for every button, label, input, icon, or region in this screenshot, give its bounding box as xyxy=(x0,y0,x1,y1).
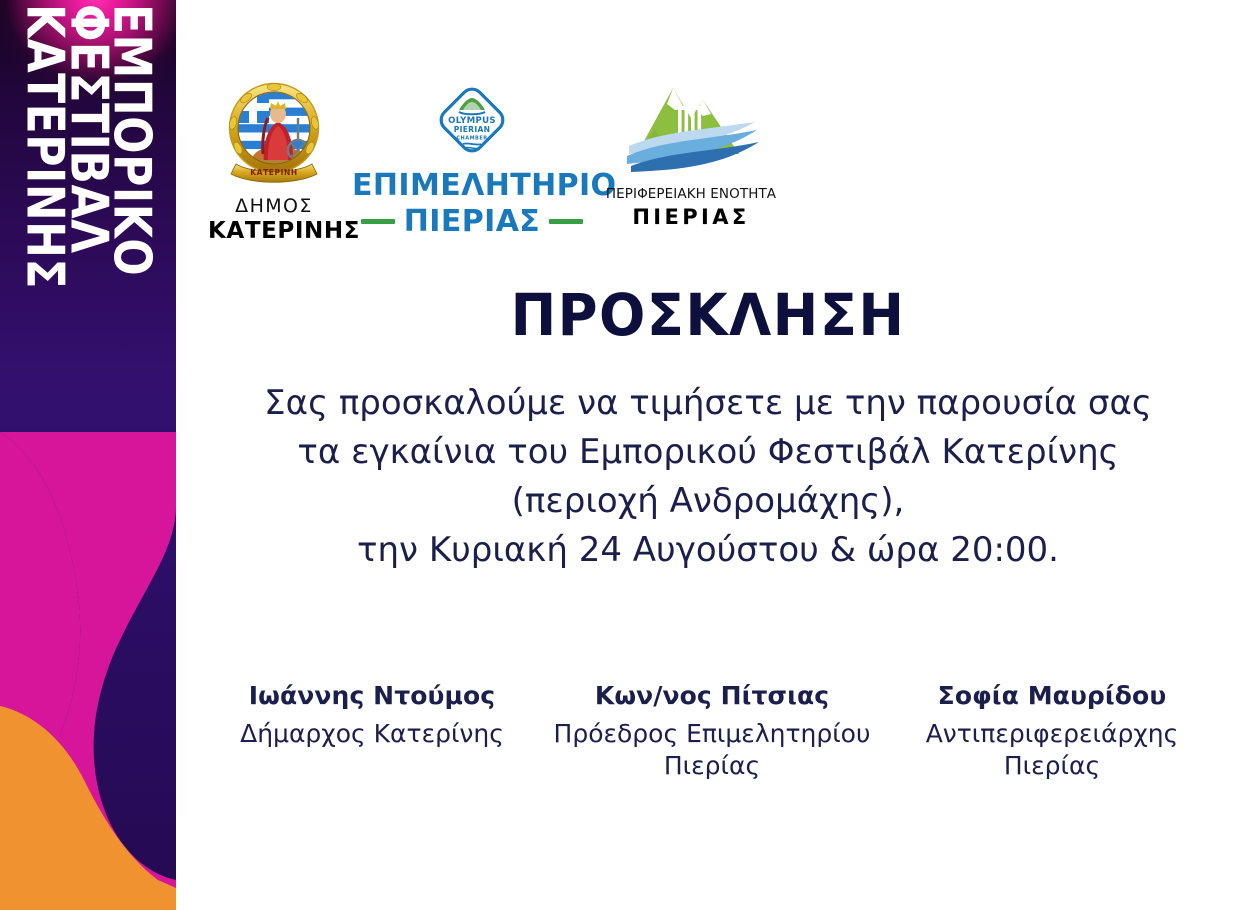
invitation-body: Σας προσκαλούμε να τιμήσετε με την παρου… xyxy=(176,379,1240,575)
decorative-sidebar: ΕΜΠΟΡΙΚΟ ΦΕΣΤΙΒΑΛ ΚΑΤΕΡΙΝΗΣ xyxy=(0,0,176,910)
logo-dimos-caption-line-2: ΚΑΤΕΡΙΝΗΣ xyxy=(208,218,340,244)
dash-left-icon xyxy=(361,219,395,224)
signatory-role: Πρόεδρος Επιμελητηρίου Πιερίας xyxy=(552,718,872,783)
dash-right-icon xyxy=(549,219,583,224)
logo-epim-caption-line-2: ΠΙΕΡΙΑΣ xyxy=(404,204,540,239)
logo-dimos-caption-line-1: ΔΗΜΟΣ xyxy=(208,195,340,217)
municipal-seal-icon: ΚΑΤΕΡΙΝΗ xyxy=(216,78,332,190)
signatory-role-line-2: Πιερίας xyxy=(892,750,1212,783)
signature-block-mayor: Ιωάννης Ντούμος Δήμαρχος Κατερίνης xyxy=(212,680,532,750)
logo-epimelitirio-pierias: OLYMPUS PIERIAN CHAMBER ΕΠΙΜΕΛΗΤΗΡΙΟ ΠΙΕ… xyxy=(352,80,592,239)
invitation-title: ΠΡΟΣΚΛΗΣΗ xyxy=(208,281,1208,349)
sidebar-wave-shapes xyxy=(0,0,176,910)
invitation-body-line-2: τα εγκαίνια του Εμπορικού Φεστιβάλ Κατερ… xyxy=(176,428,1240,477)
signature-block-chamber-president: Κων/νος Πίτσιας Πρόεδρος Επιμελητηρίου Π… xyxy=(552,680,872,783)
signature-block-deputy-governor: Σοφία Μαυρίδου Αντιπεριφερειάρχης Πιερία… xyxy=(892,680,1212,783)
main-content: ΚΑΤΕΡΙΝΗ ΔΗΜΟΣ ΚΑΤΕΡΙΝΗΣ OLYMPUS PIERIAN… xyxy=(176,0,1240,910)
signatory-role-line-2: Πιερίας xyxy=(552,750,872,783)
signatory-name: Σοφία Μαυρίδου xyxy=(892,680,1212,712)
olympus-pierian-chamber-badge-icon: OLYMPUS PIERIAN CHAMBER xyxy=(432,80,512,162)
signatory-name: Κων/νος Πίτσιας xyxy=(552,680,872,712)
svg-text:ΚΑΤΕΡΙΝΗ: ΚΑΤΕΡΙΝΗ xyxy=(250,168,298,177)
svg-text:CHAMBER: CHAMBER xyxy=(456,136,487,142)
logo-dimos-katerinis: ΚΑΤΕΡΙΝΗ ΔΗΜΟΣ ΚΑΤΕΡΙΝΗΣ xyxy=(208,78,340,244)
logo-perifereiaki-enotita-pierias: ΠΕΡΙΦΕΡΕΙΑΚΗ ΕΝΟΤΗΤΑ ΠΙΕΡΙΑΣ xyxy=(596,72,786,229)
svg-text:PIERIAN: PIERIAN xyxy=(454,125,491,134)
signature-row: Ιωάννης Ντούμος Δήμαρχος Κατερίνης Κων/ν… xyxy=(212,680,1212,783)
logo-epim-caption-line-2-row: ΠΙΕΡΙΑΣ xyxy=(352,204,592,239)
signatory-role: Αντιπεριφερειάρχης Πιερίας xyxy=(892,718,1212,783)
signatory-role-line-1: Αντιπεριφερειάρχης xyxy=(892,718,1212,751)
signatory-role: Δήμαρχος Κατερίνης xyxy=(212,718,532,751)
invitation-poster: ΕΜΠΟΡΙΚΟ ΦΕΣΤΙΒΑΛ ΚΑΤΕΡΙΝΗΣ xyxy=(0,0,1240,910)
signatory-role-line-1: Δήμαρχος Κατερίνης xyxy=(212,718,532,751)
signatory-role-line-1: Πρόεδρος Επιμελητηρίου xyxy=(552,718,872,751)
invitation-body-line-1: Σας προσκαλούμε να τιμήσετε με την παρου… xyxy=(176,379,1240,428)
mountain-column-waves-icon xyxy=(615,72,767,180)
signatory-name: Ιωάννης Ντούμος xyxy=(212,680,532,712)
logo-row: ΚΑΤΕΡΙΝΗ ΔΗΜΟΣ ΚΑΤΕΡΙΝΗΣ OLYMPUS PIERIAN… xyxy=(200,66,780,246)
invitation-body-line-3: (περιοχή Ανδρομάχης), xyxy=(176,477,1240,526)
logo-epim-caption-line-1: ΕΠΙΜΕΛΗΤΗΡΙΟ xyxy=(352,170,592,202)
invitation-body-line-4: την Κυριακή 24 Αυγούστου & ώρα 20:00. xyxy=(176,526,1240,575)
logo-peri-caption-line-1: ΠΕΡΙΦΕΡΕΙΑΚΗ ΕΝΟΤΗΤΑ xyxy=(596,186,786,202)
logo-peri-caption-line-2: ΠΙΕΡΙΑΣ xyxy=(596,205,786,229)
